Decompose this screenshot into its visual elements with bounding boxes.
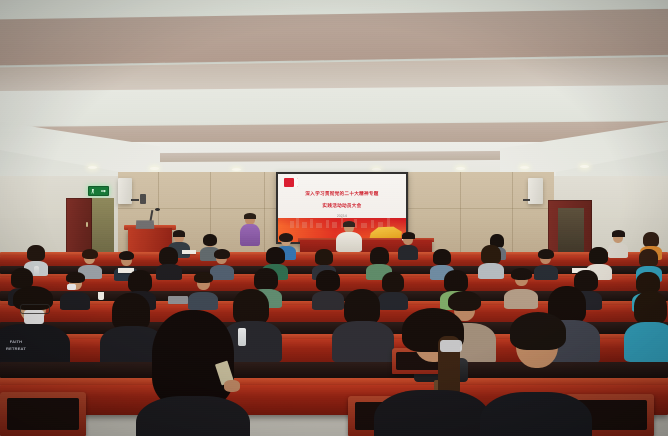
- attendee-hair: [66, 272, 85, 283]
- presenter-at-podium: [239, 214, 261, 244]
- seated-speaker: [336, 222, 362, 248]
- recessed-downlight: [88, 166, 97, 169]
- recessed-downlight: [150, 167, 159, 170]
- foreground-attendee-right-a: [380, 318, 484, 436]
- recessed-downlight: [372, 168, 381, 171]
- attendee: [504, 272, 538, 308]
- attendee: [398, 234, 418, 257]
- attendee-long-hair: [152, 310, 234, 406]
- lecture-hall-photograph: 深入学习贯彻党的二十大精神专题 实践活动动员大会 2023.6: [0, 0, 668, 436]
- attendee: [478, 248, 504, 278]
- exit-arrow-icon: [101, 190, 106, 193]
- door-right-inner: [558, 208, 584, 254]
- eyeglasses: [20, 304, 50, 314]
- slide-title-line2: 实践活动动员大会: [286, 203, 398, 209]
- recessed-downlight: [456, 167, 465, 170]
- podium-laptop: [136, 220, 155, 229]
- attendee: [156, 250, 182, 278]
- speaker-mount-arm-left: [131, 199, 139, 201]
- attendee-hair: [510, 312, 566, 350]
- door-left-panel-b[interactable]: [92, 198, 114, 254]
- attendee-torso: [136, 396, 250, 436]
- speaker-torso: [336, 232, 362, 252]
- face-mask: [440, 340, 462, 352]
- wall-control-plate-left: [140, 194, 146, 204]
- hand: [224, 380, 240, 392]
- shirt-text-line2: RETREAT: [0, 347, 40, 352]
- lecture-chair[interactable]: [0, 392, 86, 436]
- speaker-mount-arm-right: [523, 199, 530, 201]
- recessed-downlight: [580, 165, 589, 168]
- recessed-downlight: [232, 168, 241, 171]
- laptop-on-desk: [168, 296, 188, 304]
- recessed-downlight: [520, 166, 529, 169]
- slide-logo-icon: [284, 178, 298, 187]
- door-left[interactable]: [66, 198, 92, 254]
- shirt-text-line1: FAITH: [0, 340, 38, 345]
- presenter-hair: [244, 213, 256, 219]
- attendee: [628, 298, 668, 344]
- attendee: [188, 276, 218, 308]
- attendee-foreground-left: FAITH RETREAT: [0, 294, 70, 346]
- exit-running-man-icon: [91, 189, 95, 194]
- slide-title-line1: 深入学习贯彻党的二十大精神专题: [286, 191, 398, 197]
- attendee: [210, 252, 234, 278]
- speaker-hair: [343, 221, 355, 227]
- face-mask: [67, 284, 76, 290]
- papers-on-desk: [182, 250, 196, 254]
- cup-on-desk: [98, 292, 104, 300]
- foreground-attendee-right-b: [486, 322, 586, 436]
- wall-speaker-left: [118, 178, 132, 204]
- door-handle-left[interactable]: [86, 222, 88, 227]
- presenter-torso: [240, 224, 260, 246]
- emergency-exit-sign: [88, 186, 109, 196]
- podium-microphone-head: [155, 208, 160, 211]
- wall-speaker-right: [528, 178, 543, 204]
